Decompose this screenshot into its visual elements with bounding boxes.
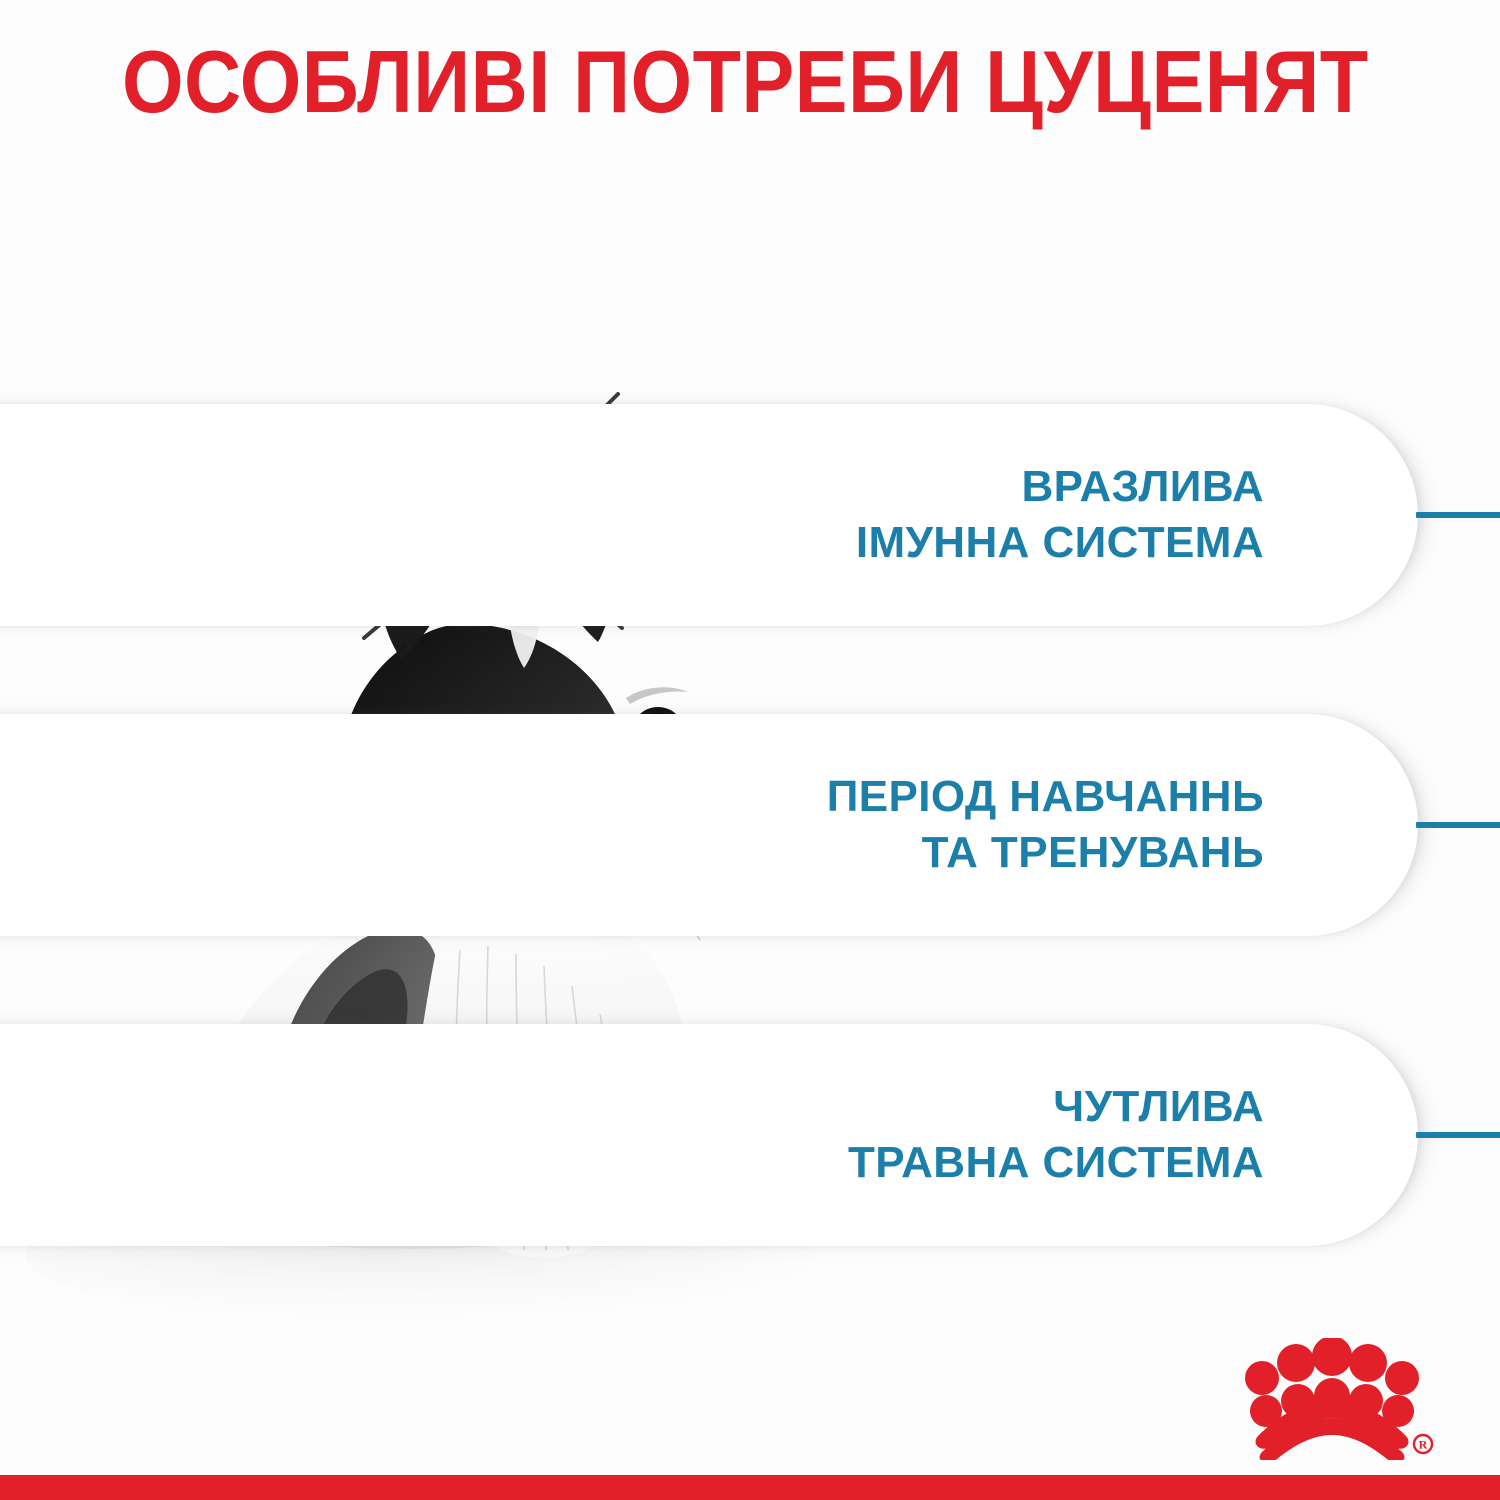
feature-line-2: ТРАВНА СИСТЕМА xyxy=(848,1135,1264,1191)
feature-line-1: ПЕРІОД НАВЧАННЬ xyxy=(827,769,1264,825)
registered-trademark-icon: R xyxy=(1414,1435,1432,1453)
connector-line-3 xyxy=(1416,1132,1500,1138)
svg-text:R: R xyxy=(1419,1438,1428,1452)
connector-line-2 xyxy=(1416,822,1500,828)
feature-card-digestive-system-text: ЧУТЛИВА ТРАВНА СИСТЕМА xyxy=(0,1024,1270,1246)
feature-line-2: ІМУННА СИСТЕМА xyxy=(856,515,1264,571)
feature-card-immune-system-text: ВРАЗЛИВА ІМУННА СИСТЕМА xyxy=(0,404,1270,626)
feature-line-1: ВРАЗЛИВА xyxy=(1021,459,1264,515)
bottom-red-stripe xyxy=(0,1475,1500,1500)
feature-line-2: ТА ТРЕНУВАНЬ xyxy=(922,825,1264,881)
connector-line-1 xyxy=(1416,512,1500,518)
poster-canvas: ОСОБЛИВІ ПОТРЕБИ ЦУЦЕНЯТ xyxy=(0,0,1500,1500)
page-title: ОСОБЛИВІ ПОТРЕБИ ЦУЦЕНЯТ xyxy=(122,36,1292,128)
feature-card-training-period-text: ПЕРІОД НАВЧАННЬ ТА ТРЕНУВАНЬ xyxy=(0,714,1270,936)
royal-canin-crown-logo: R xyxy=(1222,1338,1442,1460)
feature-line-1: ЧУТЛИВА xyxy=(1053,1079,1264,1135)
